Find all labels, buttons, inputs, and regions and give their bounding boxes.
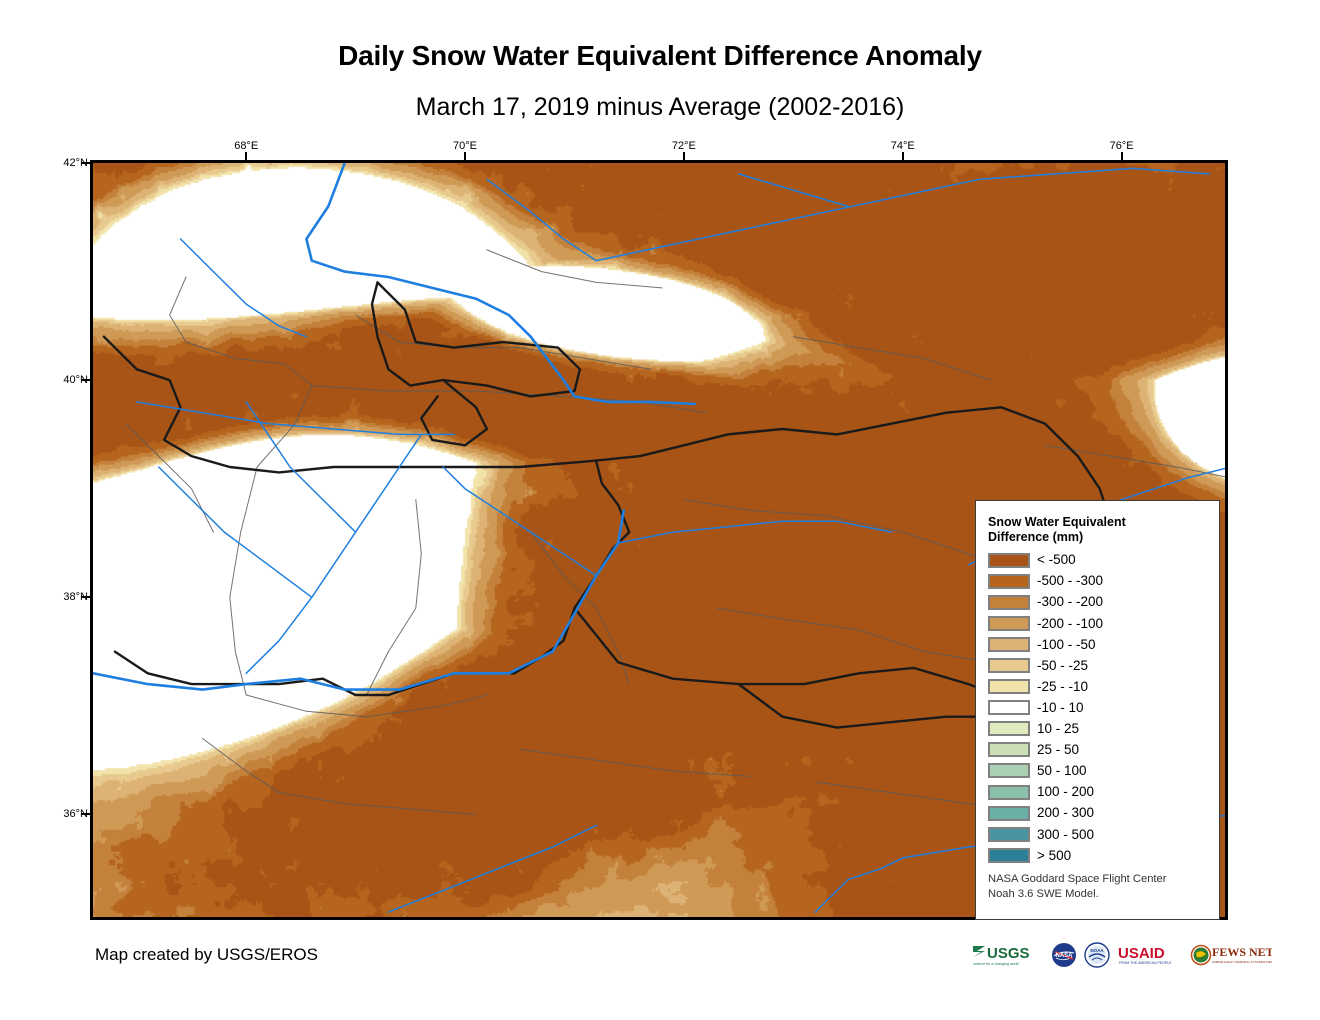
legend-color-swatch <box>988 616 1030 631</box>
admin-boundary <box>367 500 422 695</box>
legend-color-swatch <box>988 763 1030 778</box>
legend-row: 10 - 25 <box>988 718 1207 739</box>
legend-class-label: 50 - 100 <box>1037 764 1087 778</box>
legend-class-list: < -500-500 - -300-300 - -200-200 - -100-… <box>988 550 1207 866</box>
river-line <box>596 168 1209 260</box>
svg-text:FEWS NET: FEWS NET <box>1212 945 1272 959</box>
river-line <box>388 825 596 912</box>
legend-class-label: -300 - -200 <box>1037 595 1103 609</box>
lon-tick-label: 72°E <box>672 140 696 152</box>
legend-class-label: 300 - 500 <box>1037 828 1094 842</box>
legend-class-label: -25 - -10 <box>1037 680 1088 694</box>
legend-color-swatch <box>988 848 1030 863</box>
legend-class-label: < -500 <box>1037 553 1076 567</box>
legend-class-label: -50 - -25 <box>1037 659 1088 673</box>
agency-logos: USGS science for a changing world NASA N… <box>972 936 1234 974</box>
legend-color-swatch <box>988 553 1030 568</box>
river-line <box>815 858 903 912</box>
river-line <box>306 163 694 404</box>
legend-class-label: 100 - 200 <box>1037 785 1094 799</box>
river-line <box>443 467 596 576</box>
svg-text:USAID: USAID <box>1118 945 1165 962</box>
river-line <box>137 402 454 435</box>
legend-color-swatch <box>988 721 1030 736</box>
legend-class-label: -500 - -300 <box>1037 574 1103 588</box>
legend-title: Snow Water Equivalent Difference (mm) <box>988 515 1178 546</box>
legend-row: -300 - -200 <box>988 592 1207 613</box>
legend-row: 200 - 300 <box>988 803 1207 824</box>
admin-boundary <box>246 695 487 717</box>
national-boundary <box>104 337 137 370</box>
legend-color-swatch <box>988 827 1030 842</box>
usaid-logo: USAID FROM THE AMERICAN PEOPLE <box>1117 942 1183 968</box>
legend-color-swatch <box>988 658 1030 673</box>
legend-class-label: 10 - 25 <box>1037 722 1079 736</box>
national-boundary <box>115 652 230 685</box>
legend-color-swatch <box>988 679 1030 694</box>
legend-row: 100 - 200 <box>988 782 1207 803</box>
svg-text:FROM THE AMERICAN PEOPLE: FROM THE AMERICAN PEOPLE <box>1119 961 1172 965</box>
page-subtitle: March 17, 2019 minus Average (2002-2016) <box>0 93 1320 122</box>
svg-text:FAMINE EARLY WARNING SYSTEMS N: FAMINE EARLY WARNING SYSTEMS NETWORK <box>1212 960 1272 964</box>
legend-row: < -500 <box>988 550 1207 571</box>
svg-text:NOAA: NOAA <box>1090 948 1104 953</box>
legend-class-label: -100 - -50 <box>1037 638 1096 652</box>
legend-class-label: > 500 <box>1037 849 1071 863</box>
national-boundary <box>421 380 487 445</box>
national-boundary <box>739 684 1002 728</box>
admin-boundary <box>279 793 476 815</box>
legend-class-label: -10 - 10 <box>1037 701 1084 715</box>
lon-tick-label: 74°E <box>891 140 915 152</box>
legend-row: -25 - -10 <box>988 676 1207 697</box>
legend-row: 25 - 50 <box>988 739 1207 760</box>
noaa-logo: NOAA <box>1084 942 1110 968</box>
admin-boundary <box>684 500 1023 576</box>
footer-credit: Map created by USGS/EROS <box>95 945 318 965</box>
legend-row: -500 - -300 <box>988 571 1207 592</box>
admin-boundary <box>531 532 630 684</box>
river-line <box>739 174 848 207</box>
lat-tick-mark <box>81 162 90 164</box>
legend-row: 300 - 500 <box>988 824 1207 845</box>
lat-tick-mark <box>81 596 90 598</box>
admin-boundary <box>520 749 750 776</box>
admin-boundary <box>170 277 312 695</box>
lon-tick-label: 70°E <box>453 140 477 152</box>
river-line <box>93 510 624 689</box>
legend-class-label: 200 - 300 <box>1037 806 1094 820</box>
legend-row: -200 - -100 <box>988 613 1207 634</box>
legend-color-swatch <box>988 637 1030 652</box>
admin-boundary <box>312 386 706 413</box>
nasa-logo: NASA <box>1051 942 1077 968</box>
river-line <box>246 434 421 673</box>
legend-class-label: 25 - 50 <box>1037 743 1079 757</box>
legend-row: -50 - -25 <box>988 655 1207 676</box>
legend-color-swatch <box>988 806 1030 821</box>
national-boundary <box>230 462 629 695</box>
svg-text:USGS: USGS <box>987 945 1030 962</box>
map-page: Daily Snow Water Equivalent Difference A… <box>0 0 1320 1020</box>
legend-color-swatch <box>988 742 1030 757</box>
admin-boundary <box>793 337 990 380</box>
admin-boundary <box>487 250 662 288</box>
legend-panel: Snow Water Equivalent Difference (mm) < … <box>975 500 1220 920</box>
legend-row: 50 - 100 <box>988 760 1207 781</box>
lat-tick-mark <box>81 813 90 815</box>
river-line <box>487 179 596 260</box>
legend-title-line2: Difference (mm) <box>988 530 1083 544</box>
river-line <box>181 239 307 337</box>
legend-color-swatch <box>988 700 1030 715</box>
lon-tick-label: 68°E <box>234 140 258 152</box>
lat-tick-mark <box>81 379 90 381</box>
legend-class-label: -200 - -100 <box>1037 617 1103 631</box>
legend-color-swatch <box>988 785 1030 800</box>
fewsnet-logo: FEWS NET FAMINE EARLY WARNING SYSTEMS NE… <box>1190 942 1272 968</box>
lon-tick-label: 76°E <box>1110 140 1134 152</box>
page-title: Daily Snow Water Equivalent Difference A… <box>0 40 1320 72</box>
legend-row: -10 - 10 <box>988 697 1207 718</box>
river-line <box>618 521 892 543</box>
usgs-logo: USGS science for a changing world <box>972 942 1044 968</box>
svg-text:science for a changing world: science for a changing world <box>973 962 1020 966</box>
svg-text:NASA: NASA <box>1055 953 1073 959</box>
legend-color-swatch <box>988 595 1030 610</box>
legend-title-line1: Snow Water Equivalent <box>988 515 1126 529</box>
legend-row: -100 - -50 <box>988 634 1207 655</box>
legend-credit: NASA Goddard Space Flight Center Noah 3.… <box>988 872 1207 902</box>
legend-credit-line2: Noah 3.6 SWE Model. <box>988 888 1099 900</box>
legend-row: > 500 <box>988 845 1207 866</box>
legend-credit-line1: NASA Goddard Space Flight Center <box>988 873 1166 885</box>
admin-boundary <box>202 738 279 792</box>
legend-color-swatch <box>988 574 1030 589</box>
river-line <box>159 467 312 597</box>
